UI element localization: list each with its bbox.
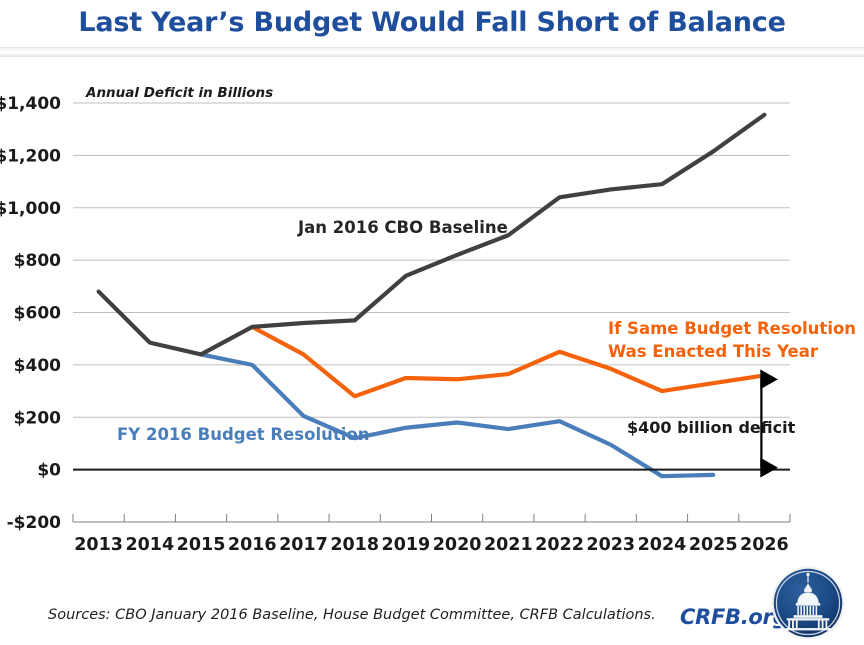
x-axis-tick-label: 2017 <box>279 535 328 555</box>
sources-note: Sources: CBO January 2016 Baseline, Hous… <box>48 607 656 623</box>
axis-caption: Annual Deficit in Billions <box>85 85 273 101</box>
y-axis-tick-label: $200 <box>14 408 61 428</box>
crfb-capitol-dome-logo[interactable] <box>770 565 846 641</box>
y-axis-tick-label: $1,000 <box>0 199 61 219</box>
x-axis-tick-labels: 2013201420152016201720182019202020212022… <box>74 535 789 555</box>
orange-series-label-line1: If Same Budget Resolution <box>608 319 856 338</box>
orange-series-label-line2: Was Enacted This Year <box>608 342 819 361</box>
chart-page: Last Year’s Budget Would Fall Short of B… <box>0 0 864 645</box>
y-axis-tick-label: $1,400 <box>0 94 61 114</box>
x-axis-tick-label: 2016 <box>228 535 277 555</box>
x-axis-tick-label: 2019 <box>382 535 431 555</box>
series-line <box>201 354 713 476</box>
x-axis-tick-label: 2013 <box>74 535 123 555</box>
deficit-gap-label: $400 billion deficit <box>627 418 796 437</box>
gridlines-group <box>73 103 790 417</box>
x-axis-tick-label: 2021 <box>484 535 533 555</box>
y-axis-tick-label: $800 <box>14 251 61 271</box>
y-axis-tick-label: $600 <box>14 304 61 324</box>
x-axis-tick-label: 2018 <box>330 535 379 555</box>
x-axis-tick-label: 2024 <box>638 535 687 555</box>
y-axis-tick-labels: $1,400$1,200$1,000$800$600$400$200$0-$20… <box>0 94 61 533</box>
x-axis-tick-label: 2025 <box>689 535 738 555</box>
y-axis-tick-label: $0 <box>37 461 61 481</box>
x-axis-tick-label: 2023 <box>586 535 635 555</box>
x-axis-tick-label: 2014 <box>125 535 174 555</box>
x-axis-tick-label: 2022 <box>535 535 584 555</box>
footer: Sources: CBO January 2016 Baseline, Hous… <box>0 560 864 645</box>
cbo-baseline-label: Jan 2016 CBO Baseline <box>297 218 508 237</box>
y-axis-tick-label: $1,200 <box>0 146 61 166</box>
y-axis-tick-label: $400 <box>14 356 61 376</box>
line-chart: $1,400$1,200$1,000$800$600$400$200$0-$20… <box>0 55 864 555</box>
blue-series-label: FY 2016 Budget Resolution <box>117 425 369 444</box>
x-axis-tick-label: 2015 <box>177 535 226 555</box>
x-axis-group <box>73 514 790 522</box>
title-band: Last Year’s Budget Would Fall Short of B… <box>0 0 864 47</box>
page-title: Last Year’s Budget Would Fall Short of B… <box>0 0 864 46</box>
y-axis-tick-label: -$200 <box>7 513 62 533</box>
chart-plot-area: $1,400$1,200$1,000$800$600$400$200$0-$20… <box>0 55 864 555</box>
x-axis-tick-label: 2020 <box>433 535 482 555</box>
x-axis-tick-label: 2026 <box>740 535 789 555</box>
